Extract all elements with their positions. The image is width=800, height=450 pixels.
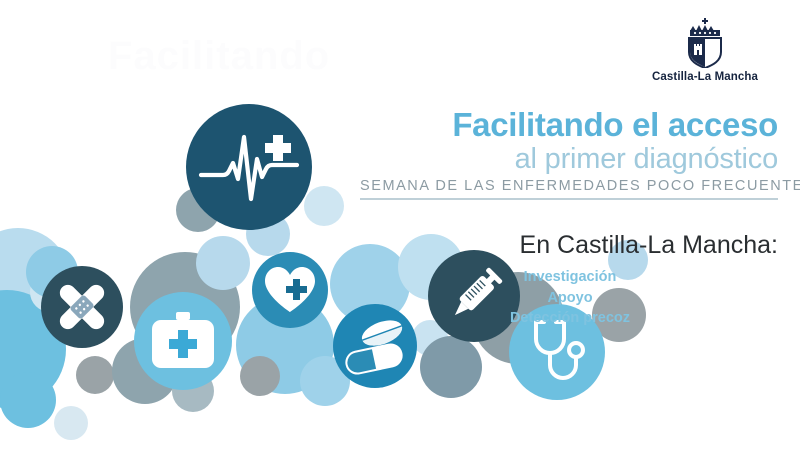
decorative-bubble	[196, 236, 250, 290]
keyword-item: Apoyo	[430, 288, 710, 309]
headline-line-2: al primer diagnóstico	[360, 143, 778, 175]
logo-wordmark: Castilla-La Mancha	[634, 71, 776, 83]
decorative-bubble	[76, 356, 114, 394]
decorative-bubble	[304, 186, 344, 226]
decorative-bubble	[54, 406, 88, 440]
bandage-cross-icon	[41, 266, 123, 348]
decorative-bubble	[0, 372, 56, 428]
background-watermark-text: Facilitando	[108, 34, 330, 79]
keyword-item: Investigación	[430, 267, 710, 288]
heart-cross-icon	[252, 252, 328, 328]
heartbeat-pulse-icon	[186, 104, 312, 230]
decorative-bubble	[420, 336, 482, 398]
headline-line-1: Facilitando el acceso	[360, 108, 778, 143]
keyword-list: Investigación Apoyo Detección precoz	[430, 267, 710, 329]
castilla-la-mancha-government-logo: Castilla-La Mancha	[634, 18, 776, 83]
campaign-subtitle: SEMANA DE LAS ENFERMEDADES POCO FRECUENT…	[360, 178, 778, 200]
region-heading: En Castilla-La Mancha:	[400, 231, 778, 260]
pills-capsule-icon	[333, 304, 417, 388]
poster-canvas: Facilitando	[0, 0, 800, 450]
decorative-bubble	[240, 356, 280, 396]
first-aid-kit-icon	[134, 292, 232, 390]
shield-crown-icon	[682, 18, 728, 68]
headline-block: Facilitando el acceso al primer diagnóst…	[360, 108, 778, 200]
keyword-item: Detección precoz	[430, 308, 710, 329]
